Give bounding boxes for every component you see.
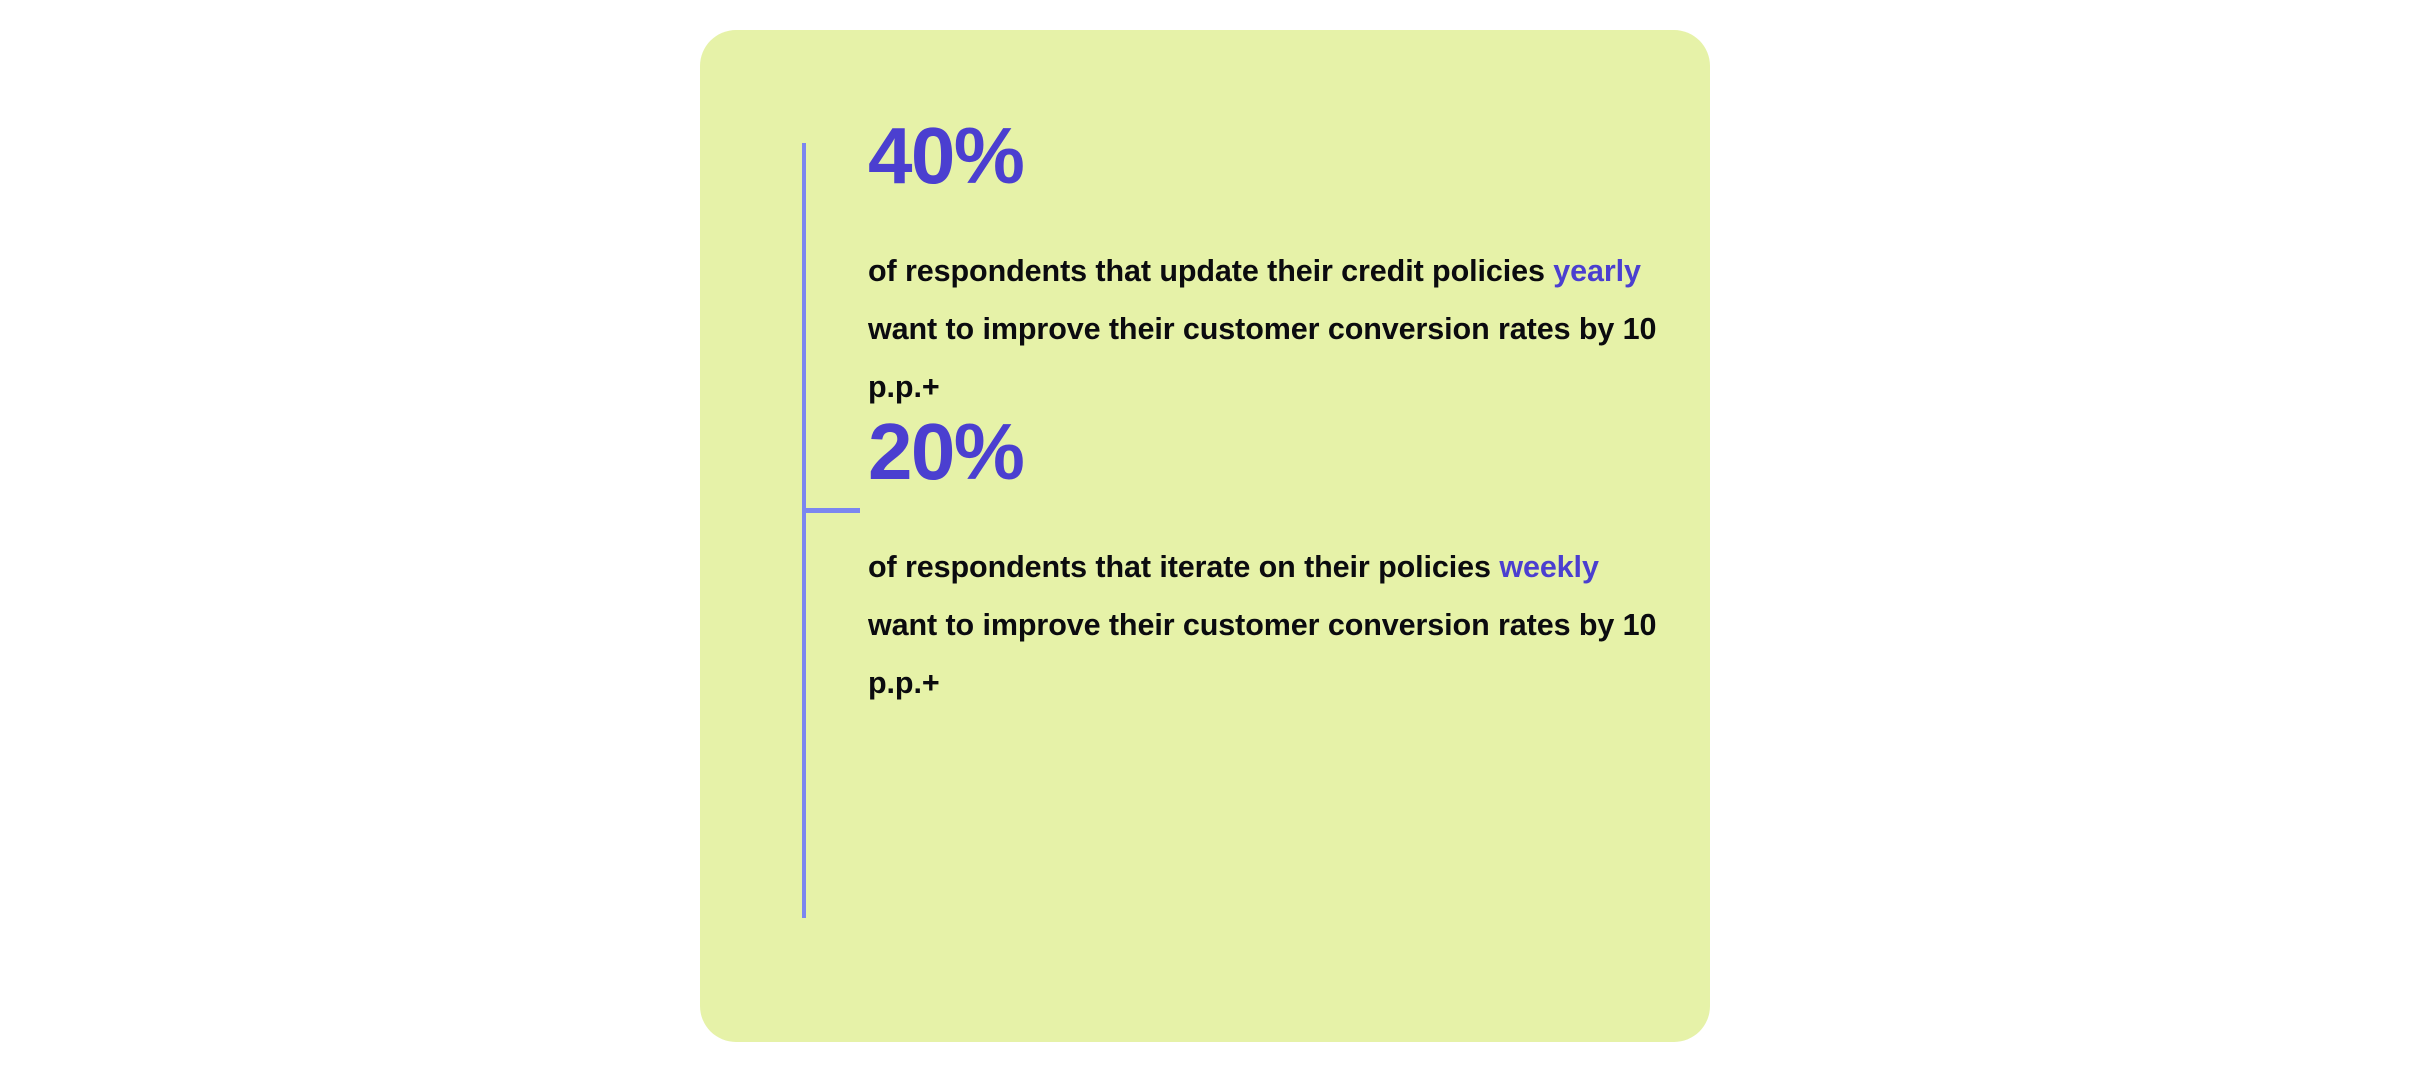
stat-description-weekly: of respondents that iterate on their pol… [868,538,1658,712]
stat-text-after: want to improve their customer conversio… [868,312,1656,404]
timeline-vertical-rule [802,143,806,918]
stat-text-after: want to improve their customer conversio… [868,608,1656,700]
page-canvas: 40% of respondents that update their cre… [0,0,2410,1072]
stat-block-yearly: 40% of respondents that update their cre… [868,116,1658,416]
stat-text-before: of respondents that update their credit … [868,254,1553,288]
stat-block-weekly: 20% of respondents that iterate on their… [868,412,1658,712]
stat-description-yearly: of respondents that update their credit … [868,242,1658,416]
stat-value-20-percent: 20% [868,412,1658,492]
stat-card: 40% of respondents that update their cre… [700,30,1710,1042]
stat-highlight-weekly: weekly [1499,550,1599,584]
stat-value-40-percent: 40% [868,116,1658,196]
stat-highlight-yearly: yearly [1553,254,1641,288]
stat-text-before: of respondents that iterate on their pol… [868,550,1499,584]
timeline-tick-marker [802,508,860,513]
